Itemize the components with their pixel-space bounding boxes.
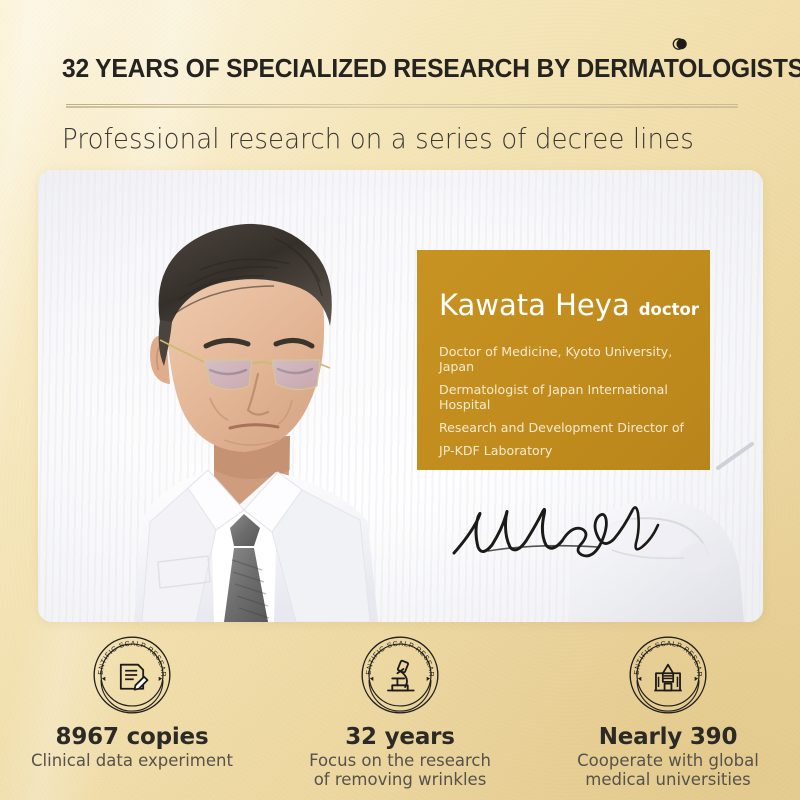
credential-line: Research and Development Director of [439,420,710,435]
stat-caption: Clinical data experiment [31,751,233,770]
stat-value: 32 years [345,724,455,750]
document-pencil-icon: SCIENTIFIC SCALP RESEARCH [89,632,175,718]
doctor-name-row: Kawata Heya doctor [439,288,710,322]
stat-value: Nearly 390 [599,724,738,750]
stat-badge-years: SCIENTIFIC SCALP RESEARCH 32 years Focus… [292,632,508,790]
credential-line: Doctor of Medicine, Kyoto University, Ja… [439,344,710,374]
page-subheadline: Professional research on a series of dec… [62,122,713,155]
contrast-toggle-icon[interactable] [669,36,691,52]
doctor-photo-card: Kawata Heya doctor Doctor of Medicine, K… [38,170,763,622]
stat-caption: Focus on the research of removing wrinkl… [309,751,491,790]
doctor-info-card: Kawata Heya doctor Doctor of Medicine, K… [417,250,710,470]
microscope-icon: SCIENTIFIC SCALP RESEARCH [357,632,443,718]
credential-line: JP-KDF Laboratory [439,443,710,458]
university-building-icon: SCIENTIFIC SCALP RESEARCH [625,632,711,718]
stat-badge-clinical-data: SCIENTIFIC SCALP RESEARCH 8967 copies Cl… [24,632,240,770]
stat-caption: Cooperate with global medical universiti… [577,751,759,790]
page-headline: 32 YEARS OF SPECIALIZED RESEARCH BY DERM… [62,55,728,84]
signature [448,495,663,573]
doctor-role: doctor [639,300,699,319]
stats-badges-row: SCIENTIFIC SCALP RESEARCH 8967 copies Cl… [0,632,800,800]
headline-divider [66,104,738,108]
doctor-name: Kawata Heya [439,288,630,322]
credential-line: Dermatologist of Japan International Hos… [439,382,710,412]
stat-badge-universities: SCIENTIFIC SCALP RESEARCH Nearly 390 Coo… [560,632,776,790]
doctor-credentials: Doctor of Medicine, Kyoto University, Ja… [439,344,710,458]
stat-value: 8967 copies [56,724,209,750]
